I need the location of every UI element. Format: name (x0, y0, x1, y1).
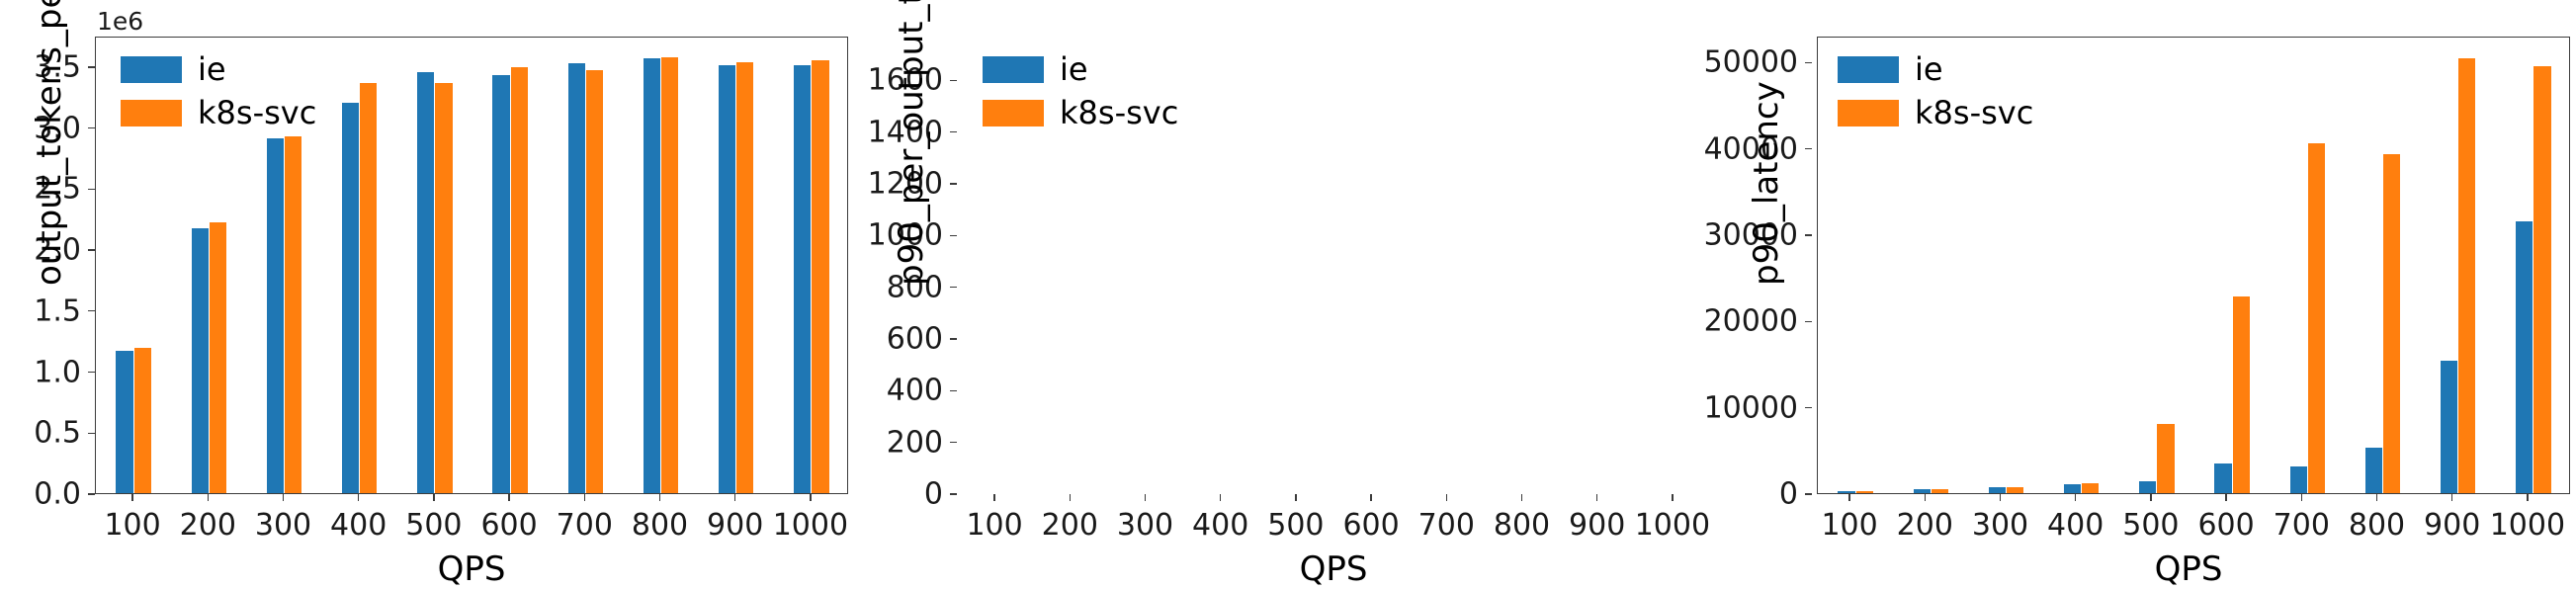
xtick-mark-per-output-token-latency-300 (1145, 494, 1146, 501)
xtick-label-throughput-800: 800 (632, 508, 688, 543)
xtick-label-p90-latency-500: 500 (2122, 508, 2179, 543)
ytick-mark-throughput-1 (88, 433, 95, 434)
xtick-label-throughput-700: 700 (557, 508, 613, 543)
ytick-mark-p90-latency-1 (1805, 407, 1812, 408)
ytick-label-per-output-token-latency-2: 400 (887, 374, 943, 408)
bar-throughput-k8ssvc-1000 (812, 60, 828, 493)
legend-label-ie: ie (198, 53, 226, 85)
xtick-mark-p90-latency-500 (2150, 494, 2151, 501)
figure-canvas: 0.00.51.01.52.02.53.03.51e61002003004005… (0, 0, 2576, 585)
legend-swatch-ie-icon (1838, 56, 1899, 83)
ytick-label-throughput-1: 0.5 (34, 416, 81, 451)
ytick-mark-throughput-0 (88, 493, 95, 494)
bar-throughput-ie-600 (492, 75, 509, 493)
ytick-mark-throughput-3 (88, 310, 95, 311)
bar-throughput-k8ssvc-100 (134, 348, 151, 493)
bar-throughput-ie-700 (568, 63, 585, 493)
legend-label-k8s-svc: k8s-svc (1915, 97, 2033, 128)
xtick-mark-per-output-token-latency-600 (1370, 494, 1371, 501)
xtick-mark-per-output-token-latency-900 (1596, 494, 1597, 501)
legend-throughput: iek8s-svc (121, 54, 316, 127)
xtick-mark-throughput-500 (433, 494, 434, 501)
xtick-label-throughput-1000: 1000 (773, 508, 848, 543)
xtick-label-per-output-token-latency-600: 600 (1342, 508, 1399, 543)
legend-label-k8s-svc: k8s-svc (1060, 97, 1178, 128)
legend-label-k8s-svc: k8s-svc (198, 97, 316, 128)
legend-item-p90-latency-ie[interactable]: ie (1838, 54, 2033, 84)
xtick-label-p90-latency-600: 600 (2197, 508, 2254, 543)
ytick-mark-throughput-4 (88, 249, 95, 250)
ytick-mark-per-output-token-latency-5 (950, 235, 957, 236)
xtick-label-per-output-token-latency-100: 100 (966, 508, 1022, 543)
xtick-mark-per-output-token-latency-400 (1220, 494, 1221, 501)
bar-throughput-ie-500 (417, 72, 434, 493)
bar-throughput-ie-900 (719, 65, 735, 493)
xtick-mark-p90-latency-600 (2225, 494, 2226, 501)
xtick-mark-p90-latency-200 (1925, 494, 1926, 501)
xtick-mark-p90-latency-400 (2075, 494, 2076, 501)
ytick-mark-per-output-token-latency-3 (950, 338, 957, 339)
xtick-label-throughput-300: 300 (255, 508, 311, 543)
bar-throughput-k8ssvc-400 (360, 83, 377, 493)
bar-throughput-ie-100 (116, 351, 132, 493)
xtick-mark-per-output-token-latency-200 (1070, 494, 1071, 501)
ytick-mark-p90-latency-0 (1805, 493, 1812, 494)
xtick-mark-p90-latency-1000 (2527, 494, 2528, 501)
xtick-mark-p90-latency-800 (2376, 494, 2377, 501)
legend-item-p90-latency-k8s-svc[interactable]: k8s-svc (1838, 98, 2033, 127)
xtick-mark-p90-latency-100 (1848, 494, 1849, 501)
xtick-mark-throughput-900 (734, 494, 735, 501)
bar-throughput-ie-200 (192, 228, 209, 493)
bar-throughput-ie-300 (267, 138, 284, 493)
legend-item-per-output-token-latency-k8s-svc[interactable]: k8s-svc (983, 98, 1178, 127)
ytick-mark-p90-latency-2 (1805, 321, 1812, 322)
xtick-mark-per-output-token-latency-500 (1295, 494, 1296, 501)
legend-per-output-token-latency: iek8s-svc (983, 54, 1178, 127)
xtick-mark-throughput-400 (358, 494, 359, 501)
legend-swatch-k8s-svc-icon (121, 100, 182, 126)
bar-throughput-k8ssvc-500 (435, 83, 452, 493)
xtick-label-per-output-token-latency-800: 800 (1494, 508, 1550, 543)
ytick-label-throughput-2: 1.0 (34, 355, 81, 389)
xtick-mark-per-output-token-latency-100 (993, 494, 994, 501)
xtick-mark-throughput-600 (508, 494, 509, 501)
xtick-label-p90-latency-200: 200 (1897, 508, 1953, 543)
xtick-label-per-output-token-latency-300: 300 (1117, 508, 1173, 543)
axis-offset-text-throughput: 1e6 (97, 7, 143, 36)
ytick-label-p90-latency-1: 10000 (1704, 390, 1798, 425)
ytick-mark-per-output-token-latency-7 (950, 131, 957, 132)
xtick-mark-per-output-token-latency-700 (1446, 494, 1447, 501)
ytick-mark-p90-latency-4 (1805, 148, 1812, 149)
ytick-label-p90-latency-5: 50000 (1704, 45, 1798, 80)
ytick-mark-p90-latency-5 (1805, 62, 1812, 63)
bar-throughput-k8ssvc-800 (661, 57, 678, 493)
xtick-mark-per-output-token-latency-800 (1521, 494, 1522, 501)
xtick-label-p90-latency-800: 800 (2349, 508, 2405, 543)
ytick-mark-throughput-6 (88, 127, 95, 128)
legend-swatch-k8s-svc-icon (983, 100, 1044, 126)
xtick-label-p90-latency-1000: 1000 (2490, 508, 2565, 543)
bar-throughput-k8ssvc-900 (736, 62, 753, 493)
xtick-mark-throughput-100 (131, 494, 132, 501)
xtick-label-throughput-100: 100 (104, 508, 160, 543)
xtick-mark-throughput-200 (208, 494, 209, 501)
xtick-label-per-output-token-latency-200: 200 (1042, 508, 1098, 543)
yaxis-label-p90-latency: p90_latency (1747, 81, 1786, 286)
yaxis-label-throughput: output_tokens_per_min (30, 0, 69, 286)
legend-swatch-k8s-svc-icon (1838, 100, 1899, 126)
ytick-mark-p90-latency-3 (1805, 234, 1812, 235)
yaxis-label-per-output-token-latency: p90_per_output_token_latency (892, 0, 931, 286)
xaxis-label-p90-latency: QPS (2155, 549, 2223, 589)
xtick-label-p90-latency-700: 700 (2274, 508, 2330, 543)
ytick-label-throughput-3: 1.5 (34, 294, 81, 328)
bar-throughput-k8ssvc-300 (285, 136, 301, 493)
xtick-mark-throughput-300 (283, 494, 284, 501)
ytick-label-per-output-token-latency-3: 600 (887, 322, 943, 357)
xtick-mark-throughput-1000 (810, 494, 811, 501)
legend-p90-latency: iek8s-svc (1838, 54, 2033, 127)
ytick-mark-per-output-token-latency-6 (950, 183, 957, 184)
xtick-mark-per-output-token-latency-1000 (1672, 494, 1673, 501)
bar-throughput-ie-400 (342, 103, 359, 493)
xtick-label-per-output-token-latency-900: 900 (1569, 508, 1625, 543)
ytick-mark-per-output-token-latency-2 (950, 390, 957, 391)
ytick-label-throughput-0: 0.0 (34, 477, 81, 512)
ytick-mark-per-output-token-latency-1 (950, 442, 957, 443)
xtick-label-throughput-400: 400 (330, 508, 386, 543)
legend-swatch-ie-icon (983, 56, 1044, 83)
xtick-label-p90-latency-100: 100 (1821, 508, 1877, 543)
legend-item-throughput-ie[interactable]: ie (121, 54, 316, 84)
xtick-mark-throughput-800 (659, 494, 660, 501)
bar-throughput-k8ssvc-600 (511, 67, 528, 493)
bar-throughput-ie-1000 (794, 65, 811, 493)
xtick-mark-p90-latency-300 (2000, 494, 2001, 501)
xtick-label-per-output-token-latency-400: 400 (1192, 508, 1248, 543)
legend-item-per-output-token-latency-ie[interactable]: ie (983, 54, 1178, 84)
legend-label-ie: ie (1060, 53, 1088, 85)
ytick-mark-throughput-7 (88, 66, 95, 67)
ytick-label-per-output-token-latency-1: 200 (887, 425, 943, 460)
xtick-label-throughput-900: 900 (707, 508, 763, 543)
legend-swatch-ie-icon (121, 56, 182, 83)
ytick-label-p90-latency-2: 20000 (1704, 304, 1798, 339)
xtick-label-throughput-200: 200 (180, 508, 236, 543)
xaxis-label-throughput: QPS (438, 549, 506, 589)
xtick-mark-p90-latency-900 (2451, 494, 2452, 501)
ytick-mark-throughput-5 (88, 189, 95, 190)
xtick-label-p90-latency-400: 400 (2047, 508, 2104, 543)
bar-throughput-k8ssvc-200 (210, 222, 226, 493)
ytick-mark-per-output-token-latency-0 (950, 493, 957, 494)
xtick-label-per-output-token-latency-1000: 1000 (1635, 508, 1710, 543)
xtick-mark-throughput-700 (584, 494, 585, 501)
legend-item-throughput-k8s-svc[interactable]: k8s-svc (121, 98, 316, 127)
xtick-mark-p90-latency-700 (2301, 494, 2302, 501)
ytick-mark-per-output-token-latency-8 (950, 80, 957, 81)
xtick-label-throughput-500: 500 (405, 508, 462, 543)
ytick-mark-throughput-2 (88, 372, 95, 373)
xtick-label-per-output-token-latency-700: 700 (1418, 508, 1475, 543)
xtick-label-p90-latency-900: 900 (2424, 508, 2480, 543)
bar-throughput-k8ssvc-700 (586, 70, 603, 493)
legend-label-ie: ie (1915, 53, 1943, 85)
ytick-label-per-output-token-latency-0: 0 (924, 477, 943, 512)
xaxis-label-per-output-token-latency: QPS (1300, 549, 1368, 589)
xtick-label-per-output-token-latency-500: 500 (1267, 508, 1324, 543)
xtick-label-throughput-600: 600 (480, 508, 537, 543)
xtick-label-p90-latency-300: 300 (1972, 508, 2028, 543)
ytick-mark-per-output-token-latency-4 (950, 287, 957, 288)
ytick-label-p90-latency-0: 0 (1779, 477, 1798, 512)
bar-throughput-ie-800 (644, 58, 660, 493)
